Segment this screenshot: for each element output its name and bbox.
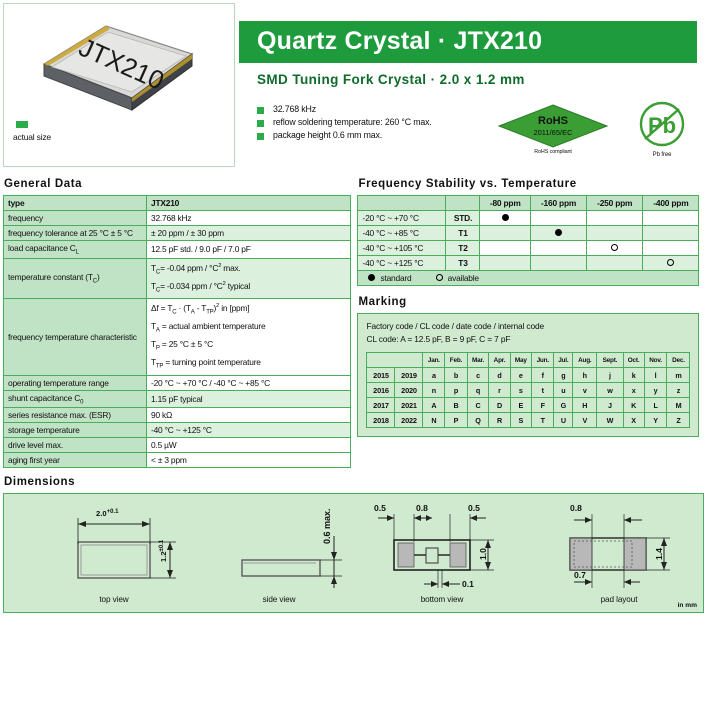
stability-cell bbox=[643, 211, 699, 226]
table-header-row: Jan. Feb. Mar. Apr. May Jun. Jul. Aug. S… bbox=[367, 353, 690, 368]
month-header: Jun. bbox=[532, 353, 554, 368]
stability-cell bbox=[530, 256, 586, 271]
svg-text:0.5: 0.5 bbox=[374, 503, 386, 513]
code-cell: f bbox=[532, 368, 554, 383]
pad-layout-drawing: 0.8 1.4 0.7 bbox=[534, 500, 704, 596]
code-cell: K bbox=[623, 398, 644, 413]
stability-cell bbox=[530, 211, 586, 226]
table-row: frequency 32.768 kHz bbox=[4, 211, 351, 226]
code-cell: j bbox=[597, 368, 623, 383]
stability-cell-standard bbox=[480, 211, 531, 226]
row-label: aging first year bbox=[4, 453, 147, 468]
row-label: frequency temperature characteristic bbox=[4, 299, 147, 375]
section-title-frequency-stability: Frequency Stability vs. Temperature bbox=[358, 178, 704, 190]
month-header: Nov. bbox=[644, 353, 667, 368]
month-header: Apr. bbox=[489, 353, 510, 368]
table-row: temperature constant (TC) TC= -0.04 ppm … bbox=[4, 258, 351, 299]
filled-dot-icon bbox=[555, 229, 562, 236]
code-cell: s bbox=[510, 383, 532, 398]
pb-free-logo: Pb Pb free bbox=[631, 100, 693, 162]
product-photo-panel: JTX210 actual size bbox=[3, 3, 235, 167]
feature-text: reflow soldering temperature: 260 °C max… bbox=[273, 117, 432, 127]
option-code: T2 bbox=[446, 241, 480, 256]
section-title-general-data: General Data bbox=[4, 178, 353, 190]
title-banner: Quartz Crystal · JTX210 bbox=[239, 21, 697, 63]
bottom-view-drawing: 0.5 0.8 0.5 1.0 0.1 bbox=[356, 500, 528, 596]
row-label: operating temperature range bbox=[4, 375, 147, 390]
main-content: General Data type JTX210 frequency 32.76… bbox=[0, 172, 707, 468]
view-label-top: top view bbox=[34, 595, 194, 604]
stability-cell bbox=[587, 256, 643, 271]
row-value: -20 °C ~ +70 °C / -40 °C ~ +85 °C bbox=[147, 375, 351, 390]
code-cell: k bbox=[623, 368, 644, 383]
feature-text: 32.768 kHz bbox=[273, 104, 316, 114]
svg-text:2011/65/EC: 2011/65/EC bbox=[533, 128, 573, 137]
svg-text:0.8: 0.8 bbox=[416, 503, 428, 513]
row-value: -40 °C ~ +125 °C bbox=[147, 423, 351, 438]
year-cell: 2018 bbox=[367, 413, 395, 428]
code-cell: Y bbox=[644, 413, 667, 428]
svg-text:1.0: 1.0 bbox=[478, 548, 488, 560]
code-cell: H bbox=[573, 398, 597, 413]
table-row: -40 °C ~ +125 °C T3 bbox=[358, 256, 699, 271]
table-row: frequency tolerance at 25 °C ± 5 °C ± 20… bbox=[4, 226, 351, 241]
code-cell: p bbox=[445, 383, 467, 398]
pb-free-icon: Pb bbox=[631, 100, 693, 150]
title-column: Quartz Crystal · JTX210 SMD Tuning Fork … bbox=[235, 0, 703, 172]
code-cell: V bbox=[573, 413, 597, 428]
svg-text:0.7: 0.7 bbox=[574, 570, 586, 580]
stability-cell bbox=[643, 226, 699, 241]
actual-size-swatch bbox=[16, 121, 28, 128]
rohs-caption: RoHS compliant bbox=[497, 149, 609, 155]
table-row: 2017 2021 A B C D E F G H J K L M bbox=[367, 398, 690, 413]
column-header: -400 ppm bbox=[643, 196, 699, 211]
month-header: Aug. bbox=[573, 353, 597, 368]
legend-available-label: available bbox=[448, 273, 479, 283]
table-row: load capacitance CL 12.5 pF std. / 9.0 p… bbox=[4, 241, 351, 259]
stability-cell-standard bbox=[530, 226, 586, 241]
rohs-logo: RoHS 2011/65/EC RoHS compliant bbox=[497, 103, 609, 161]
open-circle-icon bbox=[436, 274, 443, 281]
table-row: 2018 2022 N P Q R S T U V W X Y Z bbox=[367, 413, 690, 428]
stability-cell bbox=[530, 241, 586, 256]
code-cell: a bbox=[423, 368, 445, 383]
dimensions-panel: 2.0+0.1 1.2±0.1 top view 0.6 max. side v… bbox=[3, 493, 704, 613]
date-code-table: Jan. Feb. Mar. Apr. May Jun. Jul. Aug. S… bbox=[366, 352, 690, 428]
temperature-range: -20 °C ~ +70 °C bbox=[358, 211, 446, 226]
year-cell: 2020 bbox=[395, 383, 423, 398]
view-label-side: side view bbox=[204, 595, 354, 604]
row-value: 1.15 pF typical bbox=[147, 390, 351, 408]
code-cell: W bbox=[597, 413, 623, 428]
filled-dot-icon bbox=[502, 214, 509, 221]
stability-cell bbox=[643, 241, 699, 256]
code-cell: n bbox=[423, 383, 445, 398]
label-text: type bbox=[8, 198, 24, 208]
row-label: load capacitance CL bbox=[4, 241, 147, 259]
code-cell: t bbox=[532, 383, 554, 398]
svg-text:0.8: 0.8 bbox=[570, 503, 582, 513]
marking-note-line-1: Factory code / CL code / date code / int… bbox=[366, 320, 690, 333]
feature-list: 32.768 kHz reflow soldering temperature:… bbox=[257, 104, 432, 143]
table-row: -20 °C ~ +70 °C STD. bbox=[358, 211, 699, 226]
marking-note-line-2: CL code: A = 12.5 pF, B = 9 pF, C = 7 pF bbox=[366, 333, 690, 346]
row-label: frequency tolerance at 25 °C ± 5 °C bbox=[4, 226, 147, 241]
table-row: type JTX210 bbox=[4, 196, 351, 211]
list-item: 32.768 kHz bbox=[257, 104, 432, 114]
code-cell: y bbox=[644, 383, 667, 398]
year-cell: 2021 bbox=[395, 398, 423, 413]
month-header: May bbox=[510, 353, 532, 368]
code-cell: h bbox=[573, 368, 597, 383]
row-value: 90 kΩ bbox=[147, 408, 351, 423]
year-cell: 2015 bbox=[367, 368, 395, 383]
code-cell: M bbox=[667, 398, 690, 413]
month-header: Feb. bbox=[445, 353, 467, 368]
table-row: storage temperature -40 °C ~ +125 °C bbox=[4, 423, 351, 438]
row-label: drive level max. bbox=[4, 438, 147, 453]
code-cell: u bbox=[554, 383, 573, 398]
row-value: TC= -0.04 ppm / °C2 max. TC= -0.034 ppm … bbox=[147, 258, 351, 299]
year-cell: 2017 bbox=[367, 398, 395, 413]
temperature-range: -40 °C ~ +105 °C bbox=[358, 241, 446, 256]
year-cell: 2022 bbox=[395, 413, 423, 428]
table-header-row: -80 ppm -160 ppm -250 ppm -400 ppm bbox=[358, 196, 699, 211]
code-cell: N bbox=[423, 413, 445, 428]
code-cell: B bbox=[445, 398, 467, 413]
month-header: Mar. bbox=[467, 353, 489, 368]
row-label: shunt capacitance C0 bbox=[4, 390, 147, 408]
feature-text: package height 0.6 mm max. bbox=[273, 130, 382, 140]
section-title-dimensions: Dimensions bbox=[4, 476, 704, 488]
row-label: temperature constant (TC) bbox=[4, 258, 147, 299]
crystal-package-image: JTX210 bbox=[40, 20, 196, 116]
stability-cell bbox=[587, 226, 643, 241]
general-data-table: type JTX210 frequency 32.768 kHz frequen… bbox=[3, 195, 351, 468]
code-cell: R bbox=[489, 413, 510, 428]
section-title-marking: Marking bbox=[358, 296, 704, 308]
code-cell: l bbox=[644, 368, 667, 383]
month-header: Dec. bbox=[667, 353, 690, 368]
svg-text:0.5: 0.5 bbox=[468, 503, 480, 513]
list-item: reflow soldering temperature: 260 °C max… bbox=[257, 117, 432, 127]
option-code: STD. bbox=[446, 211, 480, 226]
row-value: 0.5 µW bbox=[147, 438, 351, 453]
legend-standard-label: standard bbox=[380, 273, 411, 283]
code-cell: P bbox=[445, 413, 467, 428]
pb-free-caption: Pb free bbox=[631, 152, 693, 158]
column-header: -160 ppm bbox=[530, 196, 586, 211]
code-cell: J bbox=[597, 398, 623, 413]
code-cell: r bbox=[489, 383, 510, 398]
stability-cell-available bbox=[643, 256, 699, 271]
side-view-drawing: 0.6 max. bbox=[204, 500, 354, 592]
svg-text:0.6 max.: 0.6 max. bbox=[322, 509, 332, 545]
column-header: -250 ppm bbox=[587, 196, 643, 211]
marking-panel: Factory code / CL code / date code / int… bbox=[357, 313, 699, 437]
code-cell: q bbox=[467, 383, 489, 398]
svg-text:1.2±0.1: 1.2±0.1 bbox=[159, 540, 168, 563]
option-code: T1 bbox=[446, 226, 480, 241]
table-row: 2015 2019 a b c d e f g h j k l m bbox=[367, 368, 690, 383]
open-circle-icon bbox=[667, 259, 674, 266]
stability-cell bbox=[480, 256, 531, 271]
month-header: Oct. bbox=[623, 353, 644, 368]
row-value: JTX210 bbox=[147, 196, 351, 211]
code-cell: C bbox=[467, 398, 489, 413]
empty-header-cell bbox=[358, 196, 446, 211]
row-value: < ± 3 ppm bbox=[147, 453, 351, 468]
table-row: operating temperature range -20 °C ~ +70… bbox=[4, 375, 351, 390]
code-cell: D bbox=[489, 398, 510, 413]
empty-header-cell bbox=[367, 353, 423, 368]
svg-text:1.4: 1.4 bbox=[654, 548, 664, 560]
table-legend-row: standard available bbox=[358, 271, 699, 286]
code-cell: L bbox=[644, 398, 667, 413]
dimensions-section: Dimensions 2.0+0.1 1.2±0.1 top view bbox=[0, 476, 707, 613]
rohs-diamond-icon: RoHS 2011/65/EC bbox=[497, 103, 609, 149]
code-cell: e bbox=[510, 368, 532, 383]
row-value: Δf = TC · (TA - TTP)2 in [ppm] TA = actu… bbox=[147, 299, 351, 375]
code-cell: b bbox=[445, 368, 467, 383]
year-cell: 2016 bbox=[367, 383, 395, 398]
list-item: package height 0.6 mm max. bbox=[257, 130, 432, 140]
filled-dot-icon bbox=[368, 274, 375, 281]
table-row: frequency temperature characteristic Δf … bbox=[4, 299, 351, 375]
svg-text:2.0+0.1: 2.0+0.1 bbox=[96, 509, 119, 518]
code-cell: z bbox=[667, 383, 690, 398]
row-value: ± 20 ppm / ± 30 ppm bbox=[147, 226, 351, 241]
code-cell: Q bbox=[467, 413, 489, 428]
code-cell: A bbox=[423, 398, 445, 413]
bullet-square-icon bbox=[257, 107, 264, 114]
table-row: 2016 2020 n p q r s t u v w x y z bbox=[367, 383, 690, 398]
code-cell: U bbox=[554, 413, 573, 428]
row-value: 12.5 pF std. / 9.0 pF / 7.0 pF bbox=[147, 241, 351, 259]
stability-cell bbox=[480, 241, 531, 256]
table-row: -40 °C ~ +105 °C T2 bbox=[358, 241, 699, 256]
code-cell: w bbox=[597, 383, 623, 398]
table-row: drive level max. 0.5 µW bbox=[4, 438, 351, 453]
code-cell: g bbox=[554, 368, 573, 383]
bullet-square-icon bbox=[257, 133, 264, 140]
svg-text:0.1: 0.1 bbox=[462, 579, 474, 589]
frequency-stability-table: -80 ppm -160 ppm -250 ppm -400 ppm -20 °… bbox=[357, 195, 699, 286]
temperature-range: -40 °C ~ +125 °C bbox=[358, 256, 446, 271]
row-label: series resistance max. (ESR) bbox=[4, 408, 147, 423]
header-section: JTX210 actual size Quartz Crystal · JTX2… bbox=[0, 0, 707, 172]
code-cell: S bbox=[510, 413, 532, 428]
view-label-bottom: bottom view bbox=[356, 595, 528, 604]
stability-cell-available bbox=[587, 241, 643, 256]
code-cell: d bbox=[489, 368, 510, 383]
empty-header-cell bbox=[446, 196, 480, 211]
page-subtitle: SMD Tuning Fork Crystal · 2.0 x 1.2 mm bbox=[257, 72, 525, 87]
top-view-drawing: 2.0+0.1 1.2±0.1 bbox=[34, 500, 194, 592]
general-data-section: General Data type JTX210 frequency 32.76… bbox=[3, 172, 353, 468]
table-row: shunt capacitance C0 1.15 pF typical bbox=[4, 390, 351, 408]
code-cell: c bbox=[467, 368, 489, 383]
column-header: -80 ppm bbox=[480, 196, 531, 211]
code-cell: G bbox=[554, 398, 573, 413]
code-cell: F bbox=[532, 398, 554, 413]
code-cell: T bbox=[532, 413, 554, 428]
legend: standard available bbox=[358, 271, 699, 286]
stability-cell bbox=[480, 226, 531, 241]
open-circle-icon bbox=[611, 244, 618, 251]
table-row: -40 °C ~ +85 °C T1 bbox=[358, 226, 699, 241]
code-cell: X bbox=[623, 413, 644, 428]
row-value: 32.768 kHz bbox=[147, 211, 351, 226]
month-header: Sept. bbox=[597, 353, 623, 368]
month-header: Jul. bbox=[554, 353, 573, 368]
code-cell: m bbox=[667, 368, 690, 383]
code-cell: v bbox=[573, 383, 597, 398]
page-title: Quartz Crystal · JTX210 bbox=[257, 27, 542, 56]
code-cell: Z bbox=[667, 413, 690, 428]
code-cell: x bbox=[623, 383, 644, 398]
table-row: aging first year < ± 3 ppm bbox=[4, 453, 351, 468]
row-label: frequency bbox=[4, 211, 147, 226]
month-header: Jan. bbox=[423, 353, 445, 368]
table-row: series resistance max. (ESR) 90 kΩ bbox=[4, 408, 351, 423]
code-cell: E bbox=[510, 398, 532, 413]
temperature-range: -40 °C ~ +85 °C bbox=[358, 226, 446, 241]
row-label: type bbox=[4, 196, 147, 211]
right-column: Frequency Stability vs. Temperature -80 … bbox=[353, 172, 704, 468]
svg-text:RoHS: RoHS bbox=[538, 115, 568, 127]
row-label: storage temperature bbox=[4, 423, 147, 438]
option-code: T3 bbox=[446, 256, 480, 271]
actual-size-caption: actual size bbox=[13, 132, 51, 142]
stability-cell bbox=[587, 211, 643, 226]
unit-note: in mm bbox=[678, 602, 697, 609]
year-cell: 2019 bbox=[395, 368, 423, 383]
bullet-square-icon bbox=[257, 120, 264, 127]
